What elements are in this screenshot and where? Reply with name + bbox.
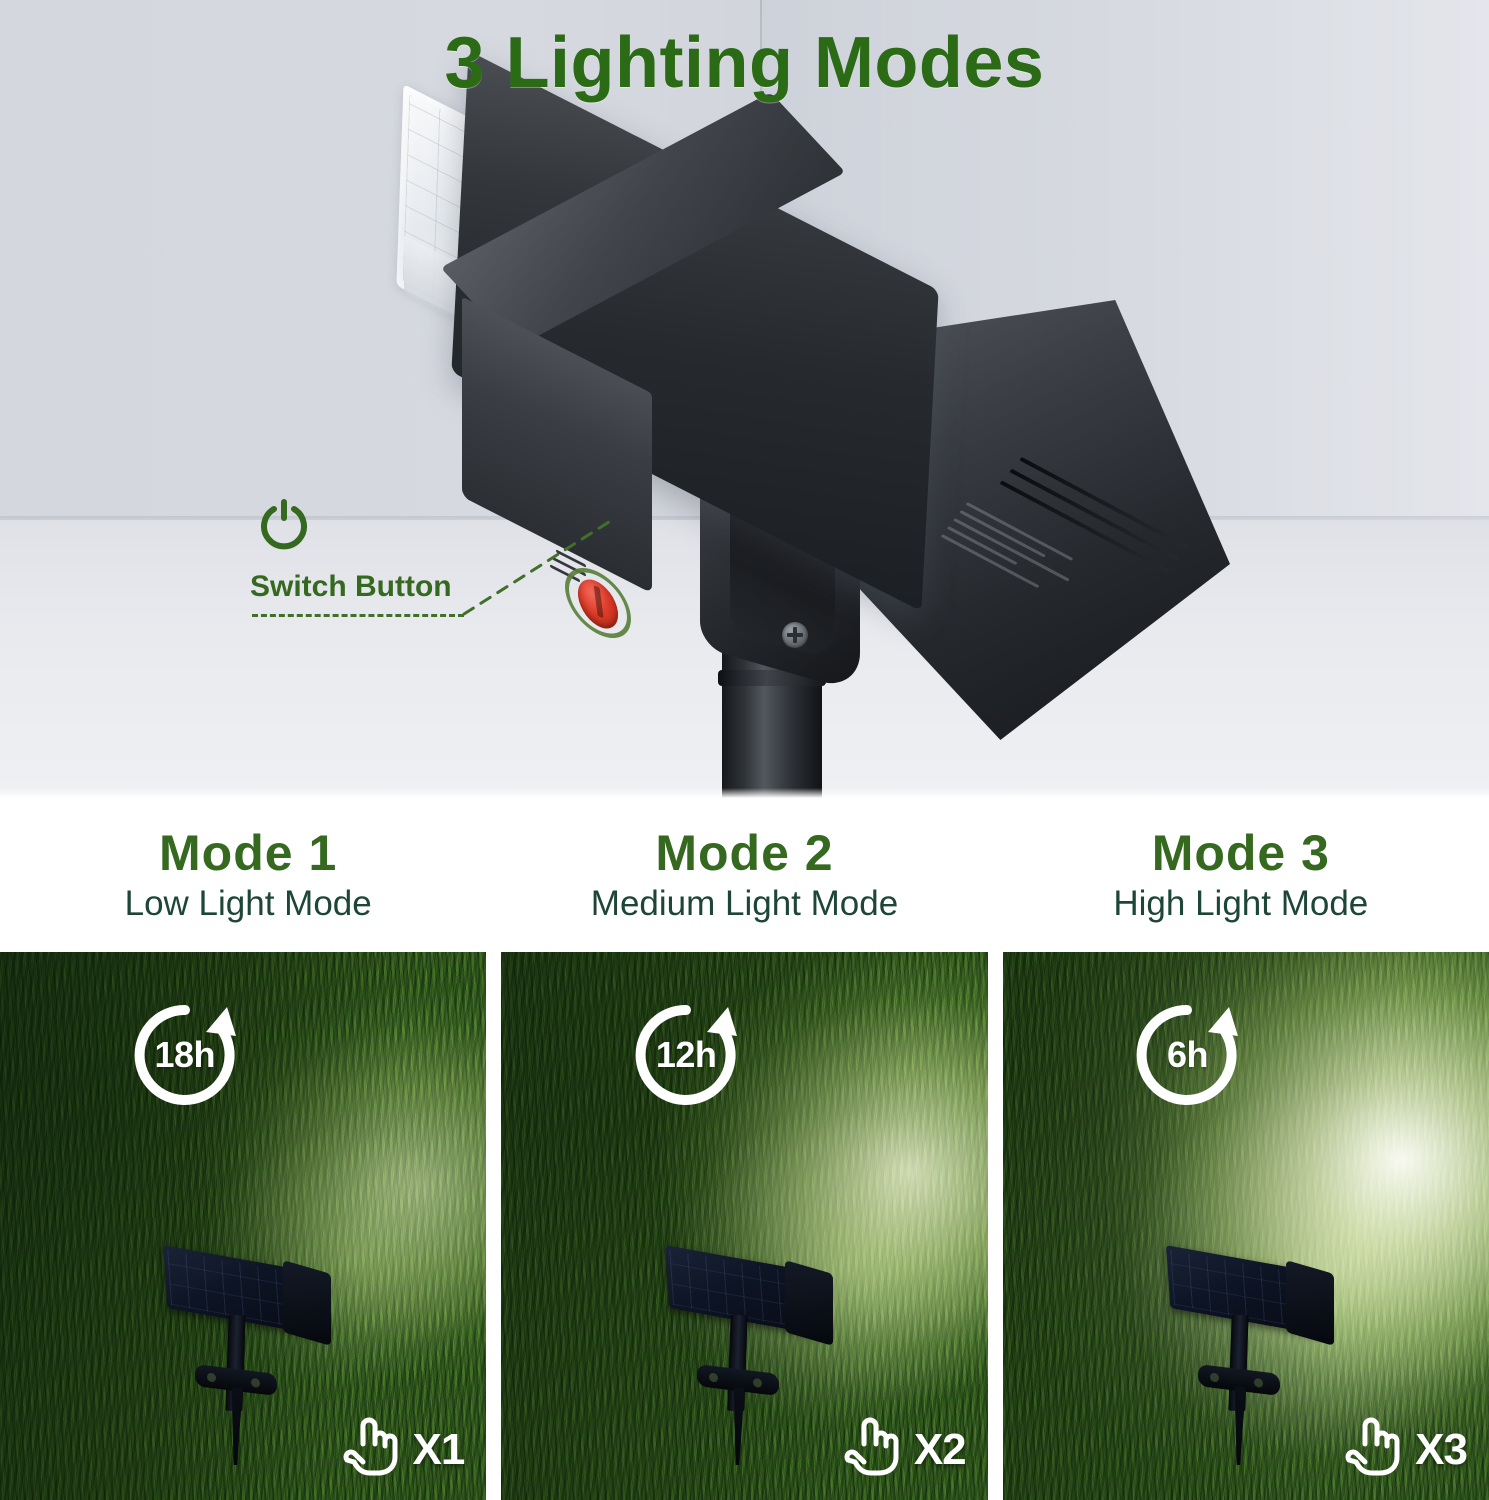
lamp-ground-stake (231, 1387, 243, 1465)
runtime-badge: 12h (627, 996, 745, 1114)
mode-labels-row: Mode 1 Low Light Mode Mode 2 Medium Ligh… (0, 798, 1489, 952)
runtime-text: 18h (126, 996, 244, 1114)
mode-subtitle: Medium Light Mode (591, 885, 898, 924)
solar-lamp-silhouette (667, 1237, 847, 1467)
hero-bottom-fade (0, 788, 1489, 798)
switch-button-callout: Switch Button (250, 498, 670, 648)
hinge-screw (782, 622, 808, 648)
solar-lamp-silhouette (1168, 1237, 1348, 1467)
tap-hand-icon (1343, 1414, 1405, 1486)
click-indicator: X1 (341, 1414, 465, 1486)
power-icon (258, 498, 310, 550)
mode-label-column-3: Mode 3 High Light Mode (993, 798, 1489, 952)
lamp-head (283, 1260, 331, 1346)
callout-leader-line (460, 516, 620, 616)
mode-photo-panel-2: 12h X2 (501, 952, 987, 1500)
tap-hand-icon (341, 1414, 403, 1486)
mode-label-column-1: Mode 1 Low Light Mode (0, 798, 496, 952)
tap-hand-icon (842, 1414, 904, 1486)
mode-title: Mode 1 (159, 827, 337, 880)
product-hero-photo: 3 Lighting Modes Switch Button (0, 0, 1489, 798)
lamp-head (785, 1260, 833, 1346)
click-count: X2 (914, 1425, 966, 1475)
runtime-text: 6h (1128, 996, 1246, 1114)
mode-subtitle: High Light Mode (1113, 885, 1368, 924)
mode-photo-panel-3: 6h X3 (1003, 952, 1489, 1500)
runtime-badge: 6h (1128, 996, 1246, 1114)
mode-photo-panel-1: 18h X1 (0, 952, 486, 1500)
click-count: X3 (1415, 1425, 1467, 1475)
click-indicator: X2 (842, 1414, 966, 1486)
lamp-head (1286, 1260, 1334, 1346)
mode-title: Mode 3 (1152, 827, 1330, 880)
lamp-ground-stake (1233, 1387, 1245, 1465)
page-title: 3 Lighting Modes (0, 22, 1489, 104)
mode-photo-panels: 18h X1 12h (0, 952, 1489, 1500)
switch-button-label: Switch Button (250, 570, 452, 604)
runtime-text: 12h (627, 996, 745, 1114)
click-indicator: X3 (1343, 1414, 1467, 1486)
runtime-badge: 18h (126, 996, 244, 1114)
solar-spotlight-product (400, 130, 1190, 798)
mode-label-column-2: Mode 2 Medium Light Mode (496, 798, 992, 952)
mode-title: Mode 2 (655, 827, 833, 880)
click-count: X1 (413, 1425, 465, 1475)
callout-underline (252, 614, 464, 617)
solar-lamp-silhouette (165, 1237, 345, 1467)
mode-subtitle: Low Light Mode (125, 885, 372, 924)
